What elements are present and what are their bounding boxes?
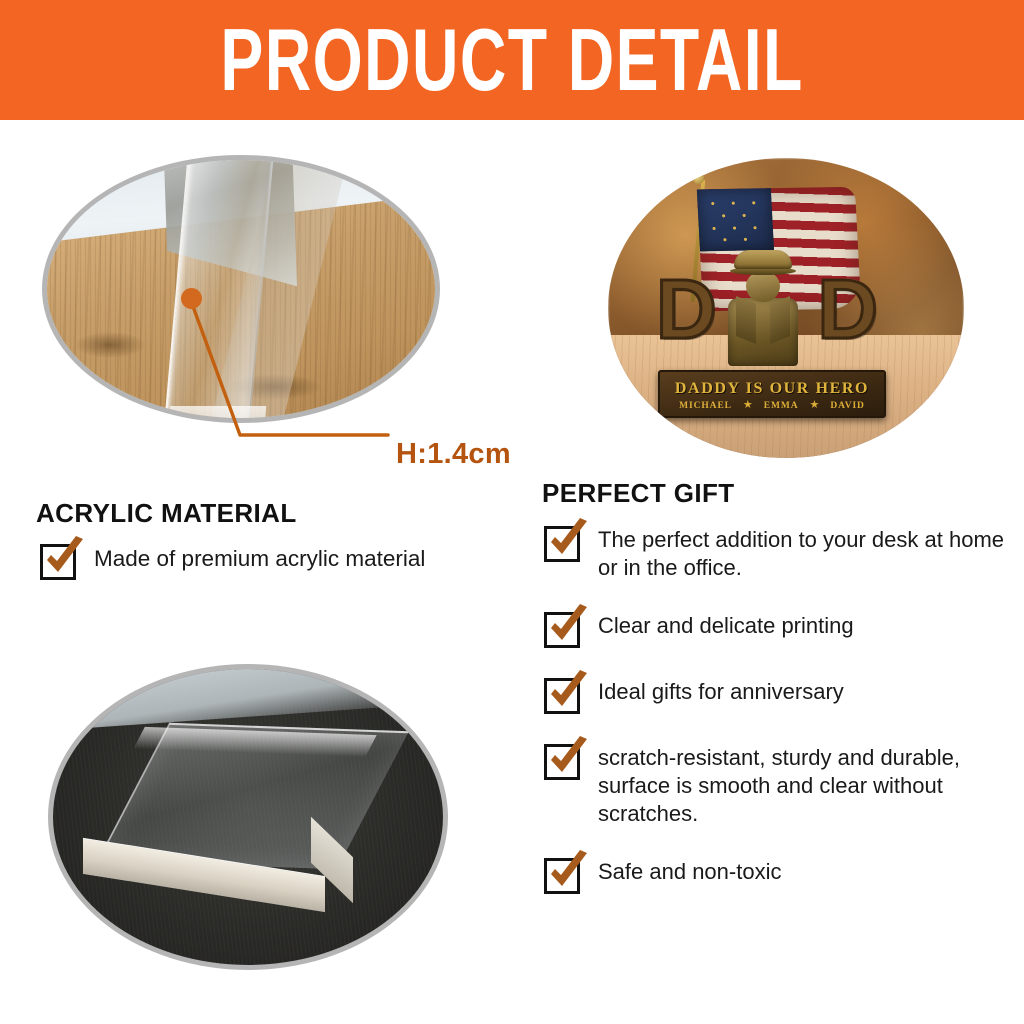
- checkmark-icon: [542, 734, 594, 786]
- dad-letter-d1: D: [656, 268, 717, 350]
- list-item: Safe and non-toxic: [544, 854, 1004, 894]
- page-title: PRODUCT DETAIL: [220, 10, 803, 111]
- engraved-name-plate: DADDY IS OUR HERO MICHAEL ★ EMMA ★ DAVID: [658, 370, 886, 418]
- list-item: The perfect addition to your desk at hom…: [544, 522, 1004, 582]
- dad-letter-d2: D: [817, 268, 878, 350]
- background-highlight: [48, 664, 448, 732]
- flag-star-field: [697, 188, 774, 251]
- plate-name-1: MICHAEL: [679, 401, 732, 411]
- checkmark-icon: [38, 534, 90, 586]
- checkmark-icon: [542, 668, 594, 720]
- flag-pole-finial: [693, 173, 704, 184]
- checkbox-checked[interactable]: [544, 608, 584, 648]
- checkmark-icon: [542, 516, 594, 568]
- section-title-acrylic-material: ACRYLIC MATERIAL: [36, 498, 297, 529]
- list-item-label: Clear and delicate printing: [598, 608, 854, 640]
- checkbox-checked[interactable]: [544, 740, 584, 780]
- section-title-perfect-gift: PERFECT GIFT: [542, 478, 735, 509]
- soldier-figurine: [726, 250, 800, 366]
- list-item: scratch-resistant, sturdy and durable, s…: [544, 740, 1004, 828]
- soldier-cap: [734, 250, 792, 269]
- list-item-label: Safe and non-toxic: [598, 854, 781, 886]
- soldier-lapel-right: [770, 296, 790, 344]
- checkbox-checked[interactable]: [544, 522, 584, 562]
- feature-list-acrylic-material: Made of premium acrylic material: [40, 540, 510, 602]
- list-item: Clear and delicate printing: [544, 608, 1004, 648]
- measurement-point-dot: [181, 288, 202, 309]
- list-item: Ideal gifts for anniversary: [544, 674, 1004, 714]
- acrylic-block-on-slate-photo: [48, 664, 448, 970]
- wood-grain-knot: [75, 332, 145, 358]
- star-icon: ★: [810, 401, 820, 410]
- list-item-label: Ideal gifts for anniversary: [598, 674, 844, 706]
- checkbox-checked[interactable]: [40, 540, 80, 580]
- star-icon: ★: [743, 401, 753, 410]
- list-item-label: The perfect addition to your desk at hom…: [598, 522, 1004, 582]
- list-item-label: Made of premium acrylic material: [94, 540, 425, 573]
- plate-name-3: DAVID: [830, 401, 864, 411]
- list-item: Made of premium acrylic material: [40, 540, 510, 580]
- checkbox-checked[interactable]: [544, 854, 584, 894]
- plate-title-text: DADDY IS OUR HERO: [675, 380, 869, 398]
- checkbox-checked[interactable]: [544, 674, 584, 714]
- dad-keepsake-photo: D A D DADDY IS OUR HERO MICHAEL ★ EMMA ★…: [608, 158, 964, 458]
- page-header-banner: PRODUCT DETAIL: [0, 0, 1024, 120]
- product-detail-page: PRODUCT DETAIL H:1.4cm D A D: [0, 0, 1024, 1024]
- feature-list-perfect-gift: The perfect addition to your desk at hom…: [544, 522, 1004, 920]
- soldier-head: [746, 272, 780, 302]
- list-item-label: scratch-resistant, sturdy and durable, s…: [598, 740, 1004, 828]
- soldier-lapel-left: [736, 296, 756, 344]
- plate-name-2: EMMA: [764, 401, 799, 411]
- plate-names-row: MICHAEL ★ EMMA ★ DAVID: [679, 401, 865, 411]
- height-dimension-label: H:1.4cm: [396, 438, 511, 471]
- slate-surface: [53, 669, 443, 965]
- checkmark-icon: [542, 602, 594, 654]
- checkmark-icon: [542, 848, 594, 900]
